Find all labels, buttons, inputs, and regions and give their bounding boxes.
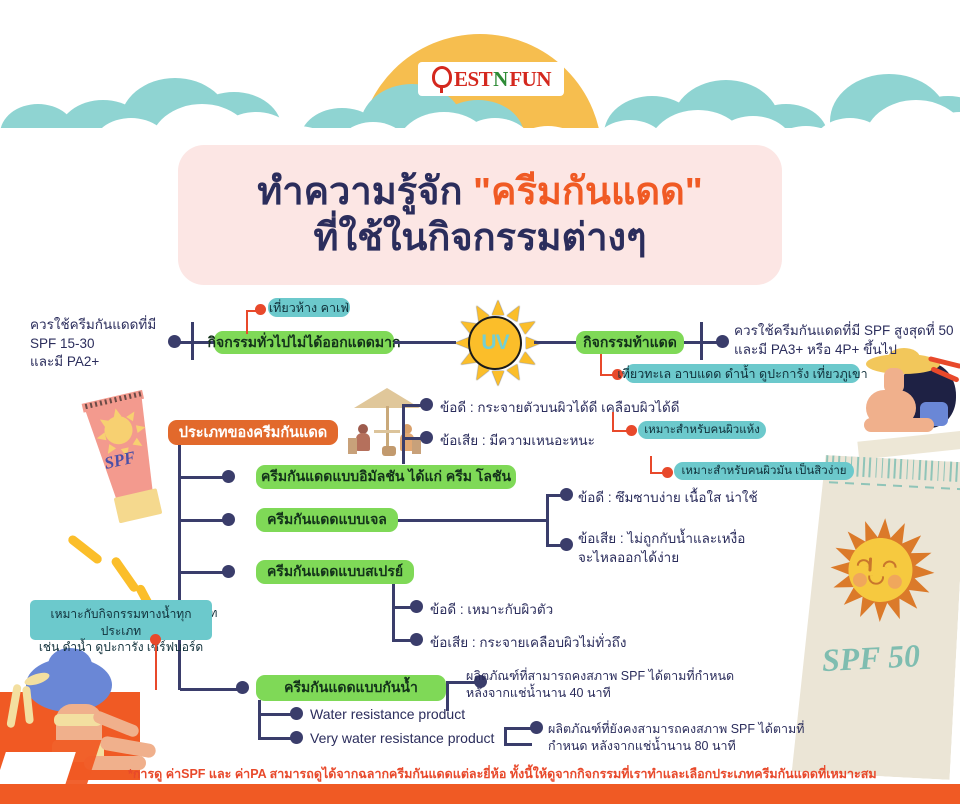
page-title-line1: ทำความรู้จัก "ครีมกันแดด"	[257, 169, 703, 215]
dot-spray	[222, 565, 235, 578]
uv-ray	[507, 364, 525, 383]
balloon-icon	[431, 66, 453, 92]
title-part-plain: ทำความรู้จัก	[257, 171, 473, 213]
spray-spine	[392, 584, 395, 640]
dot-emulsion-pro	[420, 398, 433, 411]
logo-fun-text: FUN	[509, 67, 551, 92]
tag-mall-cafe[interactable]: เที่ยวห้าง คาเฟ่	[268, 298, 350, 317]
gel-con-text: ข้อเสีย : ไม่ถูกกับน้ำและเหงื่อ จะไหลออก…	[578, 530, 745, 567]
dot-wp-desc2	[530, 721, 543, 734]
connector-left-red-v	[246, 310, 248, 334]
dot-wp-item1	[290, 707, 303, 720]
connector-waterproof	[180, 688, 242, 691]
emulsion-con-text: ข้อเสีย : มีความเหนอะหนะ	[440, 432, 595, 451]
uv-ray	[507, 303, 525, 322]
uv-ray	[492, 371, 504, 386]
connector-emulsion	[180, 476, 228, 479]
dot-gel-con	[560, 538, 573, 551]
page-title-line2: ที่ใช้ในกิจกรรมต่างๆ	[313, 215, 646, 261]
bottle-spf-label: SPF 50	[821, 637, 921, 679]
uv-core: UV	[468, 316, 522, 370]
dot-wp-item2	[290, 731, 303, 744]
infographic-canvas: EST N FUN ทำความรู้จัก "ครีมกันแดด" ที่ใ…	[0, 0, 960, 804]
emulsion-tag-v	[612, 412, 614, 432]
dot-left-example	[255, 304, 266, 315]
connector-left-bar	[191, 322, 194, 360]
uv-ray	[519, 352, 538, 370]
tag-oily-skin[interactable]: เหมาะสำหรับคนผิวมัน เป็นสิวง่าย	[674, 462, 854, 480]
footer-band	[0, 784, 960, 804]
dot-right-advice	[716, 335, 729, 348]
gel-out-connector	[398, 519, 548, 522]
connector-gel	[180, 519, 228, 522]
waterproof-tag-v	[155, 640, 157, 690]
left-advice-text: ควรใช้ครีมกันแดดที่มี SPF 15-30 และมี PA…	[30, 316, 156, 372]
right-advice-text: ควรใช้ครีมกันแดดที่มี SPF สูงสุดที่ 50 แ…	[734, 322, 954, 359]
dot-waterproof-tag	[150, 634, 161, 645]
title-card: ทำความรู้จัก "ครีมกันแดด" ที่ใช้ในกิจกรร…	[178, 145, 782, 285]
emulsion-pro-text: ข้อดี : กระจายตัวบนผิวได้ดี เคลือบผิวได้…	[440, 399, 680, 418]
gel-pro-text: ข้อดี : ซึมซาบง่าย เนื้อใส น่าใช้	[578, 489, 758, 508]
connector-uv-left	[394, 341, 456, 344]
uv-ray	[519, 316, 538, 334]
logo-n-text: N	[493, 67, 508, 92]
footer-ribbon-gap	[0, 752, 76, 788]
title-part-highlight: "ครีมกันแดด"	[473, 171, 703, 213]
waterproof-spine2	[258, 713, 261, 739]
dot-emulsion-tag	[626, 425, 637, 436]
dot-spray-con	[410, 633, 423, 646]
wp-desc2-text: ผลิตภัณฑ์ที่ยังคงสามารถคงสภาพ SPF ได้ตาม…	[548, 721, 805, 756]
tag-water-activities: เหมาะกับกิจกรรมทางน้ำทุกประเภท เช่น ดำน้…	[36, 606, 206, 656]
dot-left-advice	[168, 335, 181, 348]
dot-emulsion	[222, 470, 235, 483]
spray-pro-text: ข้อดี : เหมาะกับผิวตัว	[430, 601, 553, 620]
node-spray[interactable]: ครีมกันแดดแบบสเปรย์	[256, 560, 414, 584]
connector-uv-right	[534, 341, 576, 344]
node-emulsion[interactable]: ครีมกันแดดแบบอิมัลชัน ได้แก่ ครีม โลชัน	[256, 465, 516, 489]
smiling-sun-icon	[824, 513, 938, 627]
dot-gel-pro	[560, 488, 573, 501]
wp-item1-text: Water resistance product	[310, 705, 465, 724]
node-sunscreen-types[interactable]: ประเภทของครีมกันแดด	[168, 420, 338, 445]
node-waterproof[interactable]: ครีมกันแดดแบบกันน้ำ	[256, 675, 446, 701]
connector-spray	[180, 571, 228, 574]
dot-waterproof	[236, 681, 249, 694]
tag-dry-skin[interactable]: เหมาะสำหรับคนผิวแห้ง	[638, 421, 766, 439]
spf50-bottle-illustration: SPF 50	[792, 454, 960, 780]
spray-con-text: ข้อเสีย : กระจายเคลือบผิวไม่ทั่วถึง	[430, 634, 626, 653]
dot-gel-tag	[662, 467, 673, 478]
wp-desc2-h	[504, 743, 532, 746]
logo-rest-text: EST	[454, 67, 492, 92]
uv-ray	[492, 300, 504, 315]
brand-logo: EST N FUN	[418, 62, 564, 96]
wp-desc1-v	[446, 681, 449, 711]
node-gel[interactable]: ครีมกันแดดแบบเจล	[256, 508, 398, 532]
dot-spray-pro	[410, 600, 423, 613]
wp-desc1-text: ผลิตภัณฑ์ที่สามารถคงสภาพ SPF ได้ตามที่กำ…	[466, 668, 734, 703]
cafe-umbrella-illustration	[336, 388, 426, 458]
node-general-activity[interactable]: กิจกรรมทั่วไปไม่ได้ออกแดดมาก	[214, 331, 394, 354]
footer-note: *การดู ค่าSPF และ ค่าPA สามารถดูได้จากฉล…	[128, 764, 868, 784]
uv-label: UV	[481, 331, 508, 355]
connector-right-red-v	[600, 354, 602, 376]
gel-spine	[546, 494, 549, 546]
dot-gel	[222, 513, 235, 526]
uv-sun-icon: UV	[452, 300, 538, 386]
dot-emulsion-con	[420, 431, 433, 444]
node-sun-activity[interactable]: กิจกรรมท้าแดด	[576, 331, 684, 354]
tag-sea-activities[interactable]: เที่ยวทะเล อาบแดด ดำน้ำ ดูปะการัง เที่ยว…	[625, 364, 860, 383]
wp-item2-text: Very water resistance product	[310, 729, 494, 748]
beach-lady-right-illustration	[858, 344, 960, 452]
emulsion-up-spine	[402, 404, 405, 464]
waterproof-spine	[258, 700, 261, 714]
